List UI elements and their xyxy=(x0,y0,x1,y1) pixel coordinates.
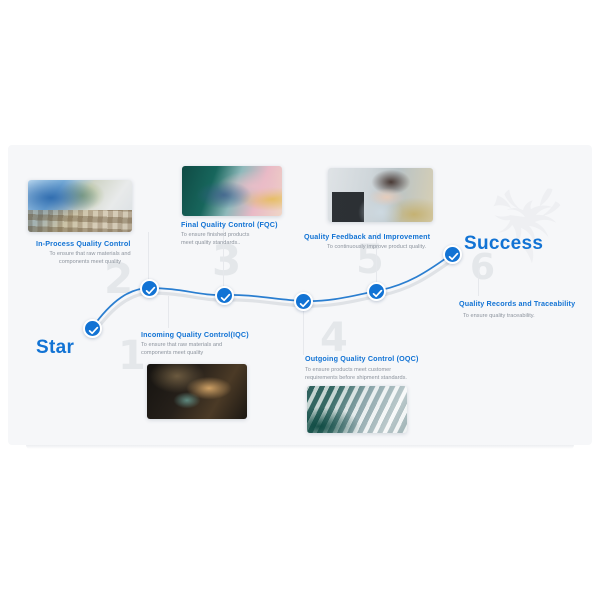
step-numeral-4: 4 xyxy=(320,318,348,358)
check-icon xyxy=(447,250,460,263)
step-node-5[interactable] xyxy=(367,282,386,301)
success-label: Success xyxy=(464,233,543,255)
inspection-hands-photo xyxy=(147,364,247,419)
eagle-watermark xyxy=(466,160,584,278)
step-title-6: Quality Records and Traceability xyxy=(459,299,575,308)
step-desc-5: To continuously improve product quality. xyxy=(327,243,432,251)
step-node-4[interactable] xyxy=(294,292,313,311)
step-title-1: Incoming Quality Control(IQC) xyxy=(141,330,249,339)
step-title-4: Outgoing Quality Control (OQC) xyxy=(305,354,419,363)
step-desc-4: To ensure products meet customer require… xyxy=(305,366,413,383)
check-icon xyxy=(87,324,100,337)
assembly-line-trays-photo xyxy=(28,180,132,232)
step-node-1[interactable] xyxy=(83,319,102,338)
step-title-2: In-Process Quality Control xyxy=(36,239,131,248)
step-node-6[interactable] xyxy=(443,245,462,264)
step-desc-6: To ensure quality traceability. xyxy=(463,312,573,320)
step-desc-2: To ensure that raw materials and compone… xyxy=(44,250,136,267)
metal-parts-photo xyxy=(307,386,407,433)
start-label: Star xyxy=(36,337,74,359)
check-icon xyxy=(144,284,157,297)
step-node-2[interactable] xyxy=(140,279,159,298)
step-desc-1: To ensure that raw materials and compone… xyxy=(141,341,227,358)
step-desc-3: To ensure finished products meet quality… xyxy=(181,231,261,248)
check-icon xyxy=(371,287,384,300)
hands-assembling-photo xyxy=(182,166,282,216)
check-icon xyxy=(298,297,311,310)
headset-agent-photo xyxy=(328,168,433,222)
step-title-5: Quality Feedback and Improvement xyxy=(304,232,430,241)
quality-process-diagram: 1 2 3 4 5 6 xyxy=(0,0,600,600)
check-icon xyxy=(219,291,232,304)
step-title-3: Final Quality Control (FQC) xyxy=(181,220,278,229)
step-node-3[interactable] xyxy=(215,286,234,305)
connector-tick-1 xyxy=(168,296,169,328)
